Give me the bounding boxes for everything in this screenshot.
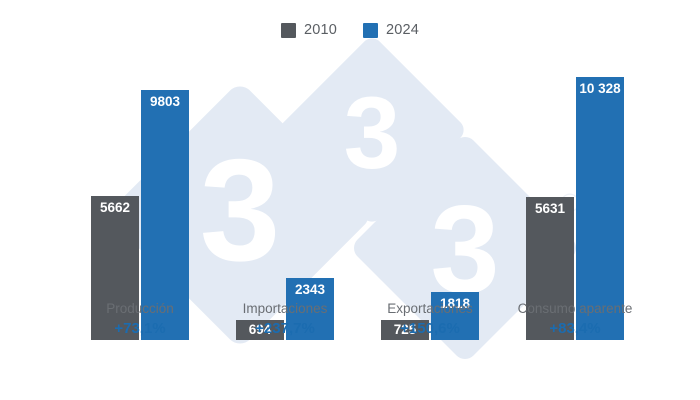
bar-value-2010-produccion: 5662 — [91, 200, 139, 215]
group-footer-importaciones: Importaciones +237,7% — [205, 300, 365, 340]
group-footer-exportaciones: Exportaciones +150,6% — [350, 300, 510, 340]
bar-value-2010-consumo-aparente: 5631 — [526, 201, 574, 216]
bar-value-2024-produccion: 9803 — [141, 94, 189, 109]
legend-item-2010[interactable]: 2010 — [281, 22, 337, 38]
bar-pair: 694 2343 — [205, 60, 365, 340]
legend-label-2024: 2024 — [386, 22, 419, 38]
change-value-consumo-aparente: +83,4% — [495, 318, 655, 340]
category-label-produccion: Producción — [60, 300, 220, 318]
bar-group-exportaciones: 725 1818 Exportaciones +150,6% — [350, 60, 510, 340]
change-value-exportaciones: +150,6% — [350, 318, 510, 340]
category-label-importaciones: Importaciones — [205, 300, 365, 318]
bar-value-2024-importaciones: 2343 — [286, 282, 334, 297]
bar-value-2024-consumo-aparente: 10 328 — [576, 81, 624, 96]
legend-label-2010: 2010 — [304, 22, 337, 38]
group-footer-produccion: Producción +73,1% — [60, 300, 220, 340]
category-label-exportaciones: Exportaciones — [350, 300, 510, 318]
chart-legend: 2010 2024 — [0, 22, 700, 38]
group-footer-consumo-aparente: Consumo aparente +83,4% — [495, 300, 655, 340]
bar-group-produccion: 5662 9803 Producción +73,1% — [60, 60, 220, 340]
legend-swatch-2010-icon — [281, 23, 296, 38]
bar-group-importaciones: 694 2343 Importaciones +237,7% — [205, 60, 365, 340]
bar-pair: 725 1818 — [350, 60, 510, 340]
legend-item-2024[interactable]: 2024 — [363, 22, 419, 38]
change-value-produccion: +73,1% — [60, 318, 220, 340]
category-label-consumo-aparente: Consumo aparente — [495, 300, 655, 318]
bar-group-consumo-aparente: 5631 10 328 Consumo aparente +83,4% — [495, 60, 655, 340]
legend-swatch-2024-icon — [363, 23, 378, 38]
plot-area: 5662 9803 Producción +73,1% 694 2343 — [0, 0, 700, 400]
change-value-importaciones: +237,7% — [205, 318, 365, 340]
bar-pair: 5631 10 328 — [495, 60, 655, 340]
chart-container: 3 3 3 ® 2010 2024 5662 9803 — [0, 0, 700, 400]
bar-pair: 5662 9803 — [60, 60, 220, 340]
